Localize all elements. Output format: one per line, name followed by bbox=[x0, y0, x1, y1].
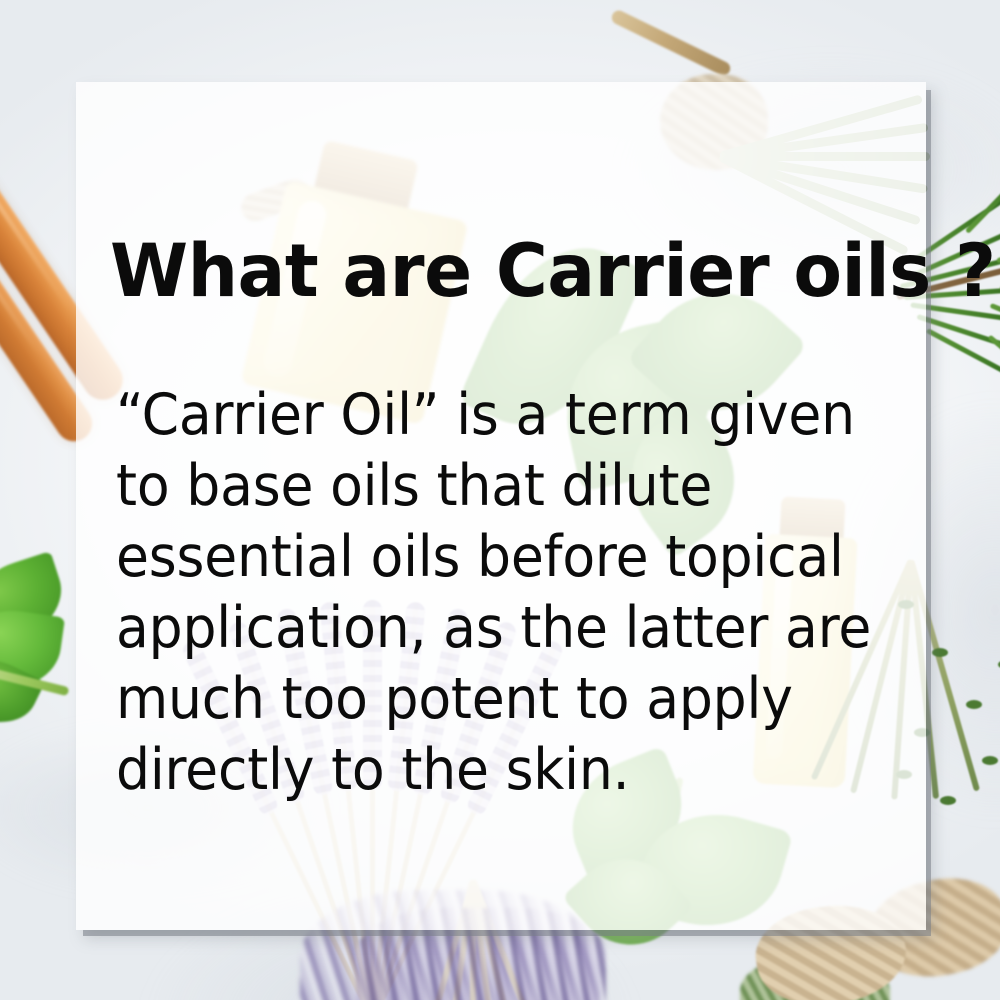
body-line: to base oils that dilute bbox=[116, 451, 859, 522]
body-line: much too potent to apply bbox=[116, 664, 859, 735]
graphic-canvas: What are Carrier oils ? “Carrier Oil” is… bbox=[0, 0, 1000, 1000]
page-title: What are Carrier oils ? bbox=[110, 235, 886, 308]
mint-leaf-left-icon bbox=[0, 556, 86, 706]
body-line: application, as the latter are bbox=[116, 593, 859, 664]
body-line: “Carrier Oil” is a term given bbox=[116, 380, 859, 451]
body-paragraph: “Carrier Oil” is a term given to base oi… bbox=[116, 380, 859, 806]
text-layer: What are Carrier oils ? “Carrier Oil” is… bbox=[76, 82, 926, 930]
body-line: essential oils before topical bbox=[116, 522, 859, 593]
body-line: directly to the skin. bbox=[116, 735, 859, 806]
